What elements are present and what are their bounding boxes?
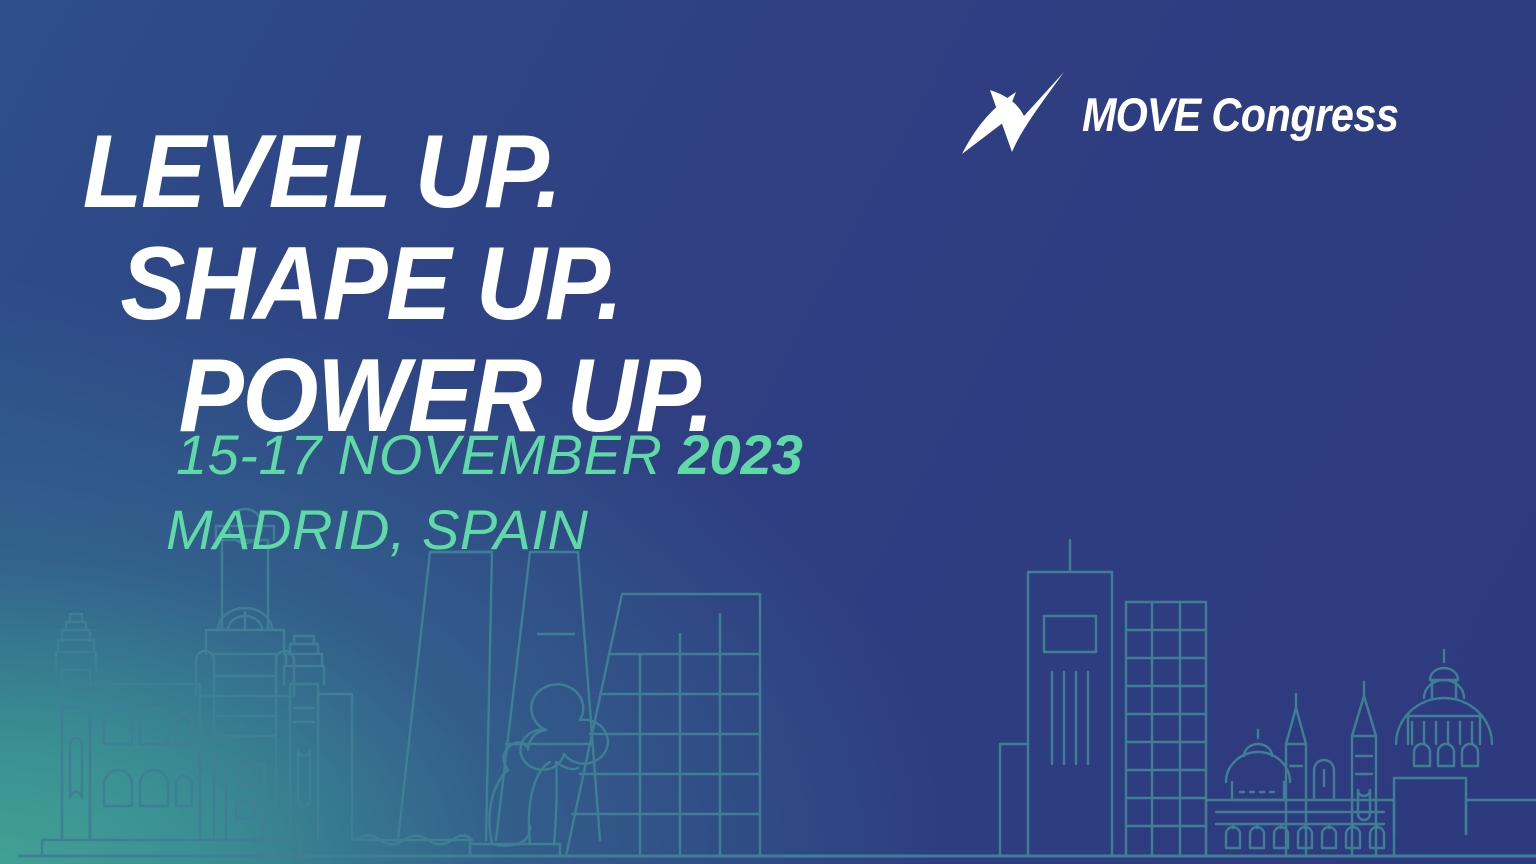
event-date: 15-17 NOVEMBER 2023 xyxy=(176,418,900,492)
headline-line-2: SHAPE UP. xyxy=(120,228,940,340)
promo-banner: LEVEL UP. SHAPE UP. POWER UP. 15-17 NOVE… xyxy=(0,0,1536,864)
almudena-cathedral xyxy=(1226,650,1492,856)
reflecting-pool xyxy=(356,836,472,845)
event-year: 2023 xyxy=(678,423,803,486)
torre-picasso xyxy=(1028,540,1112,856)
plaza-band xyxy=(352,840,470,856)
low-connector-block xyxy=(1000,744,1028,856)
el-oso-y-el-madrono-statue xyxy=(470,684,608,856)
event-details: 15-17 NOVEMBER 2023 MADRID, SPAIN xyxy=(0,418,900,568)
logo-word-congress: Congress xyxy=(1212,88,1399,141)
office-tower xyxy=(1126,602,1206,856)
event-location: MADRID, SPAIN xyxy=(166,492,900,568)
royal-palace-arcade xyxy=(1206,778,1536,856)
headline-line-1: LEVEL UP. xyxy=(83,116,940,228)
puerta-de-europa-kio-towers xyxy=(398,552,600,840)
move-congress-logo[interactable]: MOVE Congress xyxy=(960,70,1442,158)
stepped-grid-building xyxy=(566,594,760,856)
logo-word-move: MOVE xyxy=(1082,88,1200,141)
move-arrow-mark xyxy=(960,70,1066,158)
logo-wordmark: MOVE Congress xyxy=(1082,91,1399,138)
banner-headline: LEVEL UP. SHAPE UP. POWER UP. xyxy=(0,116,940,452)
event-date-range: 15-17 NOVEMBER xyxy=(176,423,662,486)
